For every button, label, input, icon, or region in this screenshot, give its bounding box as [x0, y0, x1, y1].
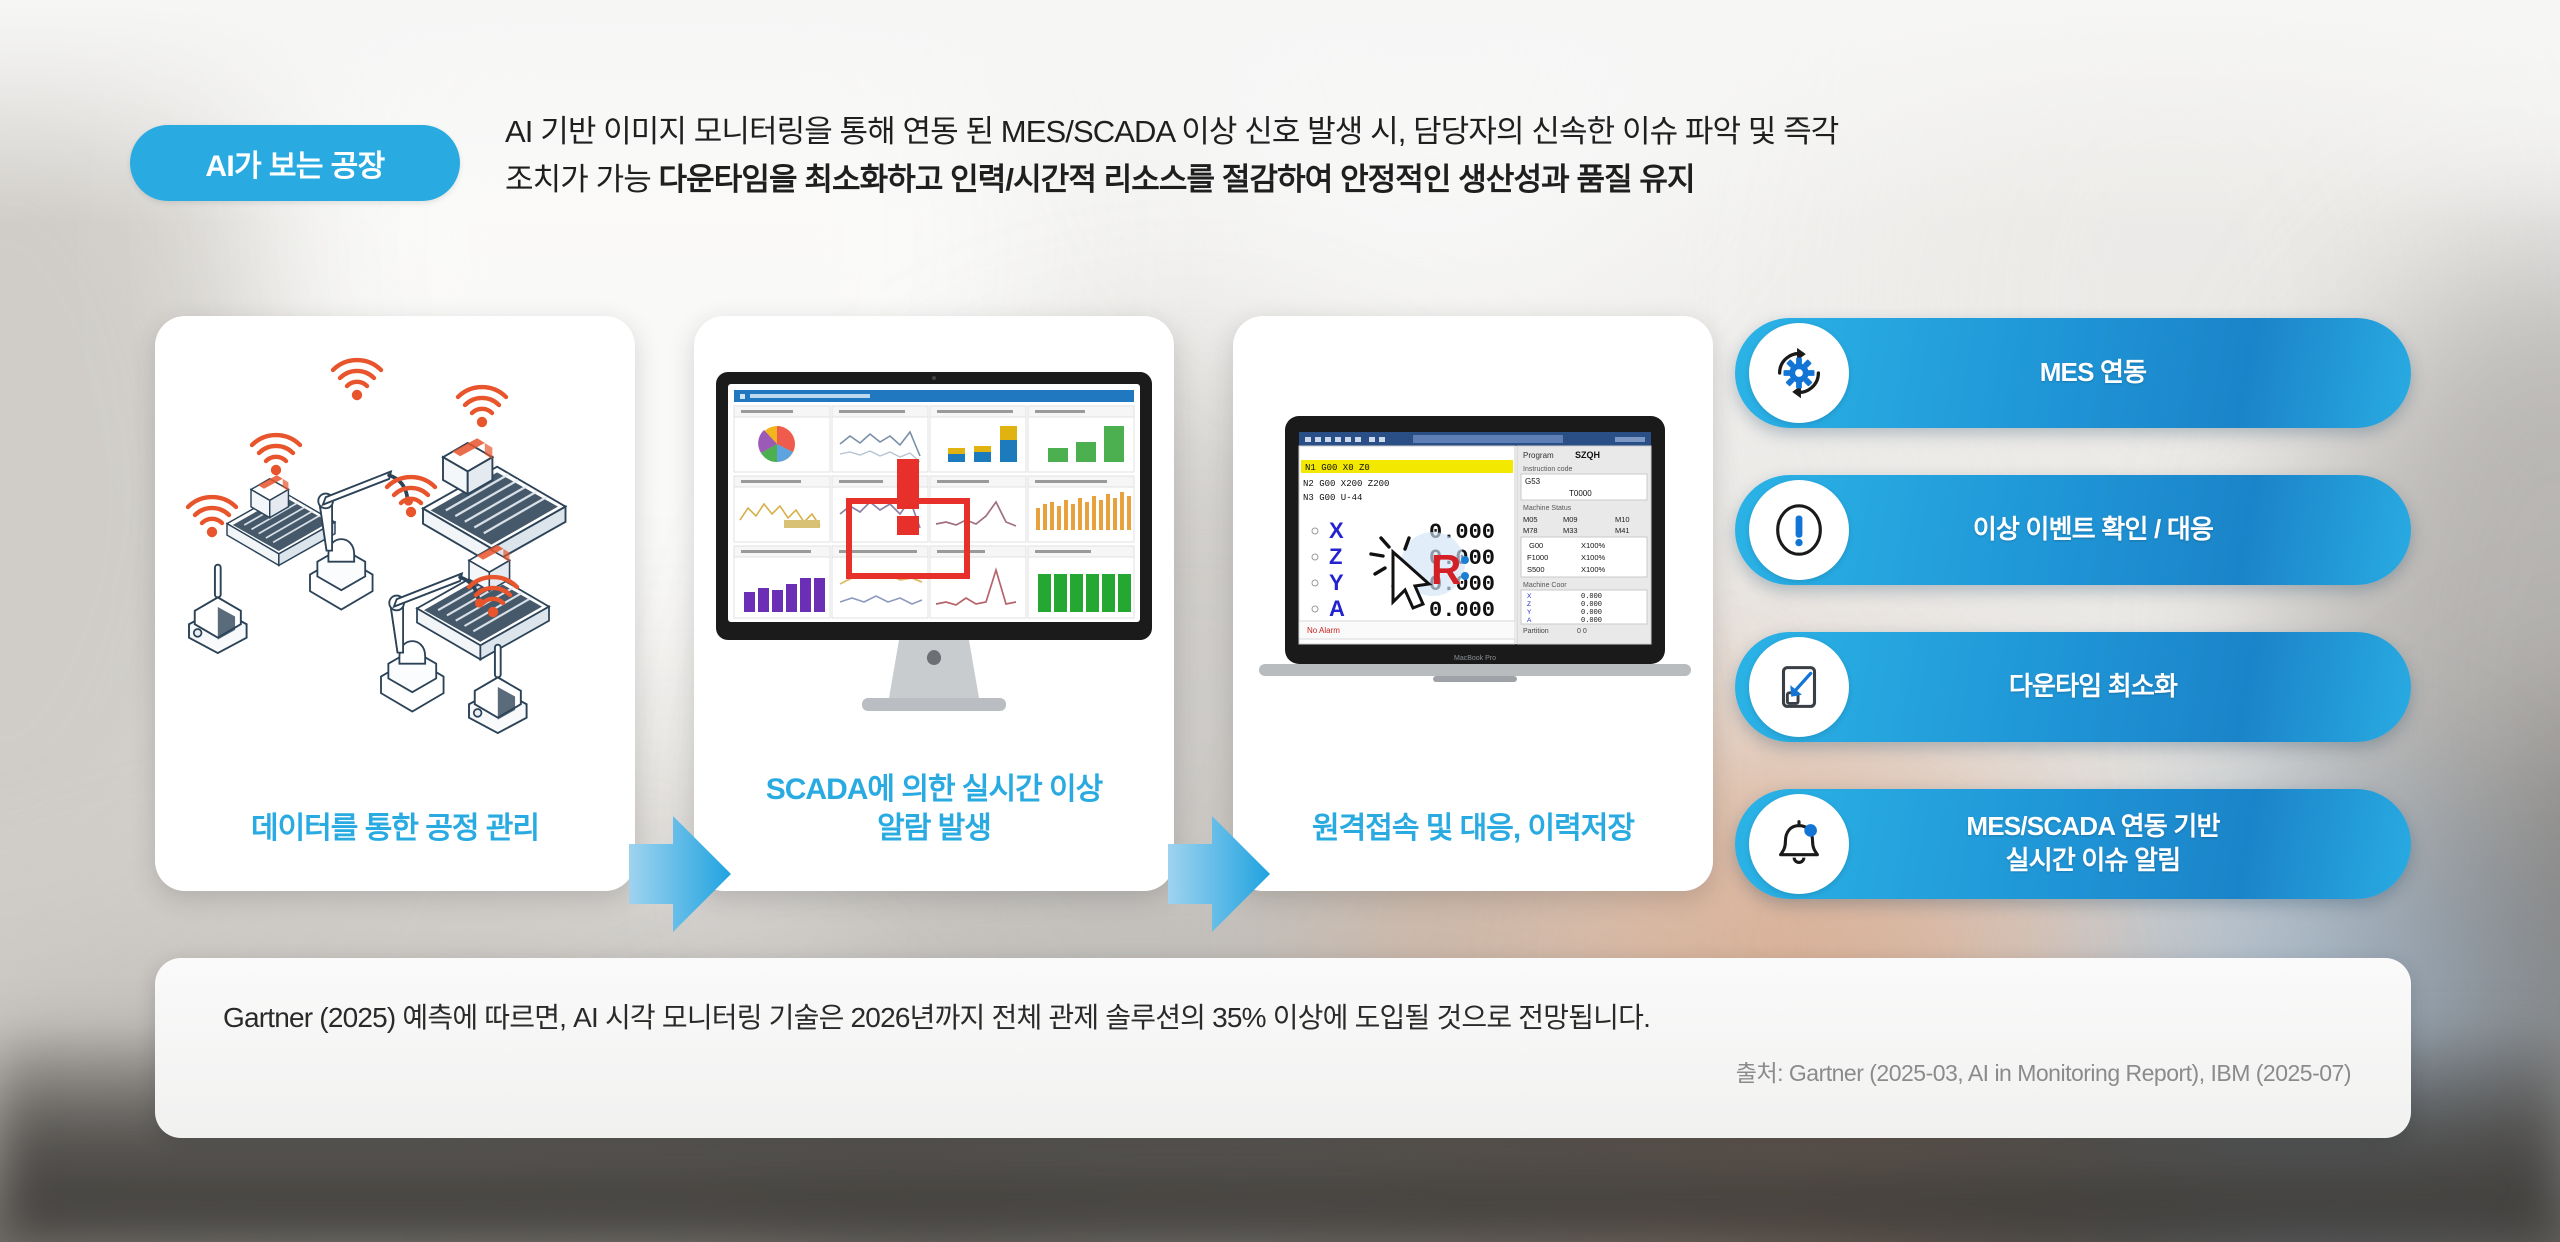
svg-text:0.000: 0.000	[1581, 617, 1602, 625]
svg-text:0.000: 0.000	[1581, 609, 1602, 617]
arrow-right-icon	[1168, 810, 1270, 938]
svg-text:0.000: 0.000	[1429, 598, 1495, 623]
svg-text:T0000: T0000	[1569, 489, 1592, 498]
flow-card-2-caption-line1: SCADA에 의한 실시간 이상	[694, 770, 1174, 810]
svg-text:A: A	[1329, 596, 1345, 621]
flow-card-remote-access[interactable]: MacBook Pro N1 G00 X0 Z0 N2 G00 X200 Z20…	[1233, 316, 1713, 891]
svg-text:Y: Y	[1329, 570, 1344, 595]
header-line-2: 조치가 가능 다운타임을 최소화하고 인력/시간적 리소스를 절감하여 안정적인…	[505, 158, 2405, 202]
gear-sync-icon	[1749, 323, 1849, 423]
svg-text:M05: M05	[1523, 515, 1538, 524]
svg-text:Z: Z	[1527, 601, 1531, 608]
header-line-2-normal: 조치가 가능	[505, 162, 659, 197]
badge-mes-integration[interactable]: MES 연동	[1735, 318, 2411, 428]
svg-text:G53: G53	[1525, 477, 1541, 486]
svg-text:N3 G00 U-44: N3 G00 U-44	[1303, 493, 1362, 503]
svg-text:0.000: 0.000	[1581, 593, 1602, 601]
badge-realtime-alert-line2: 실시간 이슈 알림	[1775, 844, 2411, 878]
svg-text:X: X	[1329, 518, 1344, 543]
svg-text:Partition: Partition	[1523, 628, 1549, 635]
svg-text:R: R	[1431, 546, 1461, 593]
svg-text:0.000: 0.000	[1581, 601, 1602, 609]
footnote-panel: Gartner (2025) 예측에 따르면, AI 시각 모니터링 기술은 2…	[155, 958, 2411, 1138]
section-title-pill: AI가 보는 공장	[130, 125, 460, 201]
footnote-source: 출처: Gartner (2025-03, AI in Monitoring R…	[1736, 1054, 2351, 1088]
svg-text:Y: Y	[1527, 609, 1532, 616]
svg-text:S500: S500	[1527, 565, 1545, 574]
svg-text:M33: M33	[1563, 526, 1578, 535]
svg-text:A: A	[1527, 617, 1532, 624]
arrow-right-icon	[629, 810, 731, 938]
svg-text:N1 G00 X0 Z0: N1 G00 X0 Z0	[1305, 463, 1370, 473]
svg-text:X100%: X100%	[1581, 553, 1606, 562]
svg-text:X: X	[1527, 593, 1532, 600]
badge-realtime-alert-line1: MES/SCADA 연동 기반	[1775, 810, 2411, 844]
downtime-arrow-icon	[1749, 637, 1849, 737]
macbook-remote-control-illustration: MacBook Pro N1 G00 X0 Z0 N2 G00 X200 Z20…	[1233, 316, 1713, 746]
bell-notification-icon	[1749, 794, 1849, 894]
svg-text:X100%: X100%	[1581, 565, 1606, 574]
svg-text:M10: M10	[1615, 515, 1630, 524]
exclamation-circle-icon	[1749, 480, 1849, 580]
factory-robots-illustration	[155, 316, 635, 746]
section-title-label: AI가 보는 공장	[205, 141, 384, 185]
footnote-text: Gartner (2025) 예측에 따르면, AI 시각 모니터링 기술은 2…	[223, 996, 2351, 1036]
feature-badge-list: MES 연동 이상 이벤트 확인 / 대응 다운타임 최소화	[1735, 318, 2411, 888]
header-description: AI 기반 이미지 모니터링을 통해 연동 된 MES/SCADA 이상 신호 …	[505, 110, 2405, 202]
svg-text:SZQH: SZQH	[1575, 450, 1600, 460]
badge-realtime-alert[interactable]: MES/SCADA 연동 기반 실시간 이슈 알림	[1735, 789, 2411, 899]
svg-text:MacBook Pro: MacBook Pro	[1454, 655, 1496, 662]
badge-anomaly-event[interactable]: 이상 이벤트 확인 / 대응	[1735, 475, 2411, 585]
svg-text:X100%: X100%	[1581, 541, 1606, 550]
svg-text:Program: Program	[1523, 451, 1554, 460]
svg-text:Instruction code: Instruction code	[1523, 466, 1573, 473]
imac-dashboard-illustration	[694, 316, 1174, 746]
svg-text:Machine Status: Machine Status	[1523, 505, 1572, 512]
badge-downtime-minimize[interactable]: 다운타임 최소화	[1735, 632, 2411, 742]
svg-text:0 0: 0 0	[1577, 628, 1587, 635]
svg-text:G00: G00	[1529, 541, 1543, 550]
flow-card-2-caption: SCADA에 의한 실시간 이상 알람 발생	[694, 770, 1174, 849]
svg-text:Z: Z	[1329, 544, 1342, 569]
header-line-2-bold: 다운타임을 최소화하고 인력/시간적 리소스를 절감하여 안정적인 생산성과 품…	[659, 162, 1695, 197]
svg-text:M09: M09	[1563, 515, 1578, 524]
header-line-1: AI 기반 이미지 모니터링을 통해 연동 된 MES/SCADA 이상 신호 …	[505, 110, 2405, 154]
svg-text:N2 G00 X200 Z200: N2 G00 X200 Z200	[1303, 479, 1389, 489]
header: AI가 보는 공장 AI 기반 이미지 모니터링을 통해 연동 된 MES/SC…	[0, 0, 2560, 250]
flow-card-3-caption: 원격접속 및 대응, 이력저장	[1233, 809, 1713, 849]
svg-text:M41: M41	[1615, 526, 1630, 535]
flow-card-process-management[interactable]: 데이터를 통한 공정 관리	[155, 316, 635, 891]
svg-text:No Alarm: No Alarm	[1307, 626, 1340, 635]
flow-card-2-caption-line2: 알람 발생	[694, 809, 1174, 849]
flow-card-scada-alert[interactable]: SCADA에 의한 실시간 이상 알람 발생	[694, 316, 1174, 891]
svg-text:F1000: F1000	[1527, 553, 1548, 562]
flow-card-1-caption: 데이터를 통한 공정 관리	[155, 809, 635, 849]
svg-text:M78: M78	[1523, 526, 1538, 535]
svg-text:Machine Coor: Machine Coor	[1523, 582, 1567, 589]
